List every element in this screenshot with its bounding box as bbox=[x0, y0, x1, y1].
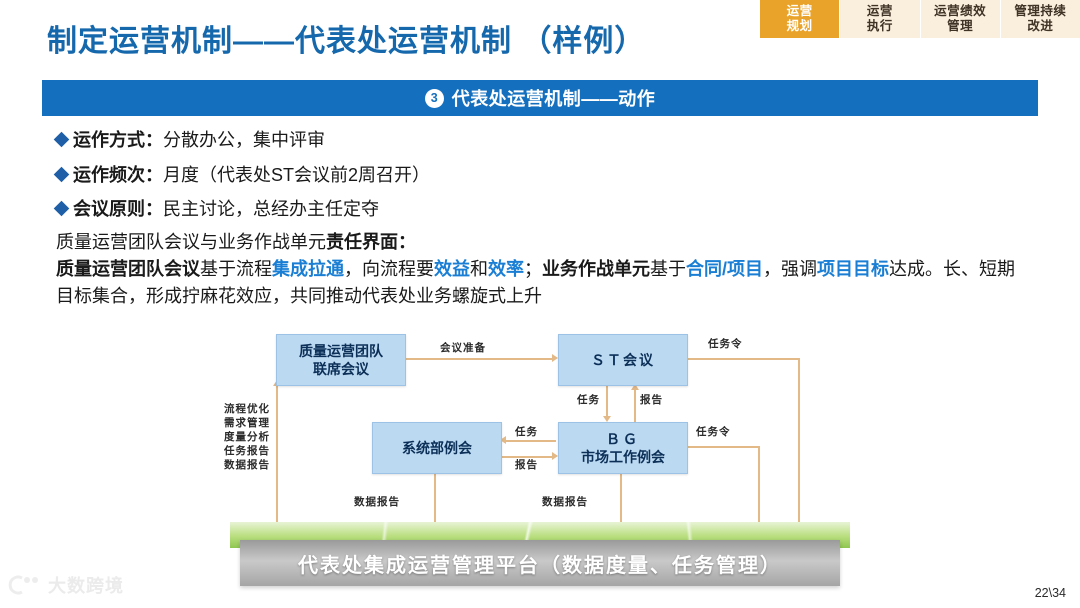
node-st-meeting[interactable]: ＳＴ会议 bbox=[558, 334, 688, 386]
node-line-1: 质量运营团队 bbox=[299, 342, 383, 360]
edge-label-left-stack: 流程优化 需求管理 度量分析 任务报告 数据报告 bbox=[224, 402, 270, 472]
edge-label-data-report-1: 数据报告 bbox=[354, 494, 400, 509]
watermark: 大数跨境 bbox=[8, 570, 124, 600]
paragraph-run-1: 基于流程 bbox=[200, 259, 272, 279]
section-banner-inner: 3 代表处运营机制——动作 bbox=[425, 85, 656, 111]
brand-logo-icon bbox=[8, 574, 42, 596]
bullet-list: 运作方式： 分散办公，集中评审 运作频次： 月度（代表处ST会议前2周召开） 会… bbox=[56, 126, 776, 230]
paragraph-lead: 质量运营团队会议与业务作战单元责任界面： bbox=[56, 229, 1024, 256]
edge-st-to-bg-task bbox=[606, 384, 608, 416]
left-label-0: 流程优化 bbox=[224, 402, 270, 416]
section-banner-title: 代表处运营机制——动作 bbox=[452, 85, 656, 111]
nav-tab-line1: 运营绩效 bbox=[934, 4, 986, 19]
edge-bg-task-order bbox=[686, 446, 760, 448]
body-paragraph: 质量运营团队会议与业务作战单元责任界面： 质量运营团队会议基于流程集成拉通，向流… bbox=[56, 229, 1024, 310]
edge-label-data-report-2: 数据报告 bbox=[542, 494, 588, 509]
diamond-bullet-icon bbox=[54, 201, 70, 217]
list-item: 运作频次： 月度（代表处ST会议前2周召开） bbox=[56, 161, 776, 187]
paragraph-run-6: 效率 bbox=[488, 259, 524, 279]
paragraph-run-3: ，向流程要 bbox=[344, 259, 434, 279]
node-line-1: ＳＴ会议 bbox=[591, 351, 655, 369]
nav-tab-operation-execution[interactable]: 运营 执行 bbox=[840, 0, 920, 38]
node-line-1: ＢＧ bbox=[606, 430, 640, 448]
page-number: 22\34 bbox=[1035, 586, 1066, 600]
edge-label-task-st-bg: 任务 bbox=[577, 392, 600, 407]
watermark-text: 大数跨境 bbox=[48, 572, 124, 598]
node-line-2: 联席会议 bbox=[313, 360, 369, 378]
page-title: 制定运营机制——代表处运营机制 （样例） bbox=[47, 16, 645, 60]
bullet-value: 民主讨论，总经办主任定夺 bbox=[163, 195, 379, 221]
node-line-2: 市场工作例会 bbox=[581, 448, 665, 466]
edge-label-meeting-prep: 会议准备 bbox=[440, 340, 486, 355]
bullet-value: 分散办公，集中评审 bbox=[163, 126, 325, 152]
section-banner: 3 代表处运营机制——动作 bbox=[42, 80, 1038, 116]
node-quality-ops-joint-meeting[interactable]: 质量运营团队 联席会议 bbox=[276, 334, 406, 386]
bullet-value: 月度（代表处ST会议前2周召开） bbox=[163, 161, 430, 187]
diamond-bullet-icon bbox=[54, 132, 70, 148]
diamond-bullet-icon bbox=[54, 166, 70, 182]
edge-label-task-order-1: 任务令 bbox=[708, 336, 743, 351]
paragraph-run-2: 集成拉通 bbox=[272, 259, 344, 279]
edge-quality-to-st bbox=[404, 358, 552, 360]
paragraph-lead-normal: 质量运营团队会议与业务作战单元 bbox=[56, 232, 326, 252]
bullet-key: 运作方式： bbox=[73, 126, 163, 152]
top-nav-tabs: 运营 规划 运营 执行 运营绩效 管理 管理持续 改进 bbox=[760, 0, 1080, 38]
paragraph-run-9: 基于 bbox=[650, 259, 686, 279]
edge-bg-to-system-task bbox=[506, 440, 556, 442]
edge-bg-to-st-report bbox=[634, 390, 636, 422]
list-item: 会议原则： 民主讨论，总经办主任定夺 bbox=[56, 195, 776, 221]
bullet-key: 运作频次： bbox=[73, 161, 163, 187]
list-item: 运作方式： 分散办公，集中评审 bbox=[56, 126, 776, 152]
node-line-1: 系统部例会 bbox=[402, 439, 472, 457]
nav-tab-line1: 运营 bbox=[787, 4, 813, 19]
edge-platform-to-quality bbox=[276, 384, 278, 530]
section-number-badge: 3 bbox=[425, 89, 444, 108]
paragraph-run-8: 业务作战单元 bbox=[542, 259, 650, 279]
paragraph-run-5: 和 bbox=[470, 259, 488, 279]
slide-root: 运营 规划 运营 执行 运营绩效 管理 管理持续 改进 制定运营机制——代表处运… bbox=[0, 0, 1080, 608]
paragraph-run-4: 效益 bbox=[434, 259, 470, 279]
bullet-key: 会议原则： bbox=[73, 195, 163, 221]
nav-tab-line1: 管理持续 bbox=[1014, 4, 1066, 19]
left-label-4: 数据报告 bbox=[224, 458, 270, 472]
paragraph-run-12: 项目目标 bbox=[817, 259, 889, 279]
nav-tab-line2: 管理 bbox=[947, 19, 973, 34]
nav-tab-line2: 执行 bbox=[867, 19, 893, 34]
edge-st-task-order-down bbox=[798, 358, 800, 530]
left-label-2: 度量分析 bbox=[224, 430, 270, 444]
platform-bar-label: 代表处集成运营管理平台（数据度量、任务管理） bbox=[298, 549, 782, 578]
edge-label-task-bg-system: 任务 bbox=[515, 424, 538, 439]
nav-tab-performance-management[interactable]: 运营绩效 管理 bbox=[921, 0, 1001, 38]
paragraph-rich-text: 质量运营团队会议基于流程集成拉通，向流程要效益和效率；业务作战单元基于合同/项目… bbox=[56, 256, 1024, 310]
paragraph-run-10: 合同/项目 bbox=[686, 259, 763, 279]
operating-mechanism-diagram: 质量运营团队 联席会议 ＳＴ会议 系统部例会 ＢＧ 市场工作例会 会议准备 任务… bbox=[230, 318, 850, 598]
paragraph-lead-bold: 责任界面： bbox=[326, 232, 416, 252]
nav-tab-line1: 运营 bbox=[867, 4, 893, 19]
nav-tab-continuous-improvement[interactable]: 管理持续 改进 bbox=[1001, 0, 1080, 38]
nav-tab-line2: 规划 bbox=[787, 19, 813, 34]
edge-st-task-order bbox=[686, 358, 800, 360]
left-label-3: 任务报告 bbox=[224, 444, 270, 458]
nav-tab-line2: 改进 bbox=[1027, 19, 1053, 34]
paragraph-run-0: 质量运营团队会议 bbox=[56, 259, 200, 279]
paragraph-run-11: ，强调 bbox=[763, 259, 817, 279]
edge-label-report-system-bg: 报告 bbox=[515, 457, 538, 472]
paragraph-run-7: ； bbox=[524, 259, 542, 279]
node-bg-market-work-meeting[interactable]: ＢＧ 市场工作例会 bbox=[558, 422, 688, 474]
left-label-1: 需求管理 bbox=[224, 416, 270, 430]
node-system-dept-regular-meeting[interactable]: 系统部例会 bbox=[372, 422, 502, 474]
edge-label-report-bg-st: 报告 bbox=[640, 392, 663, 407]
platform-bar: 代表处集成运营管理平台（数据度量、任务管理） bbox=[240, 540, 840, 586]
nav-tab-operation-planning[interactable]: 运营 规划 bbox=[760, 0, 840, 38]
edge-label-task-order-2: 任务令 bbox=[696, 424, 731, 439]
edge-bg-task-order-down bbox=[758, 446, 760, 530]
